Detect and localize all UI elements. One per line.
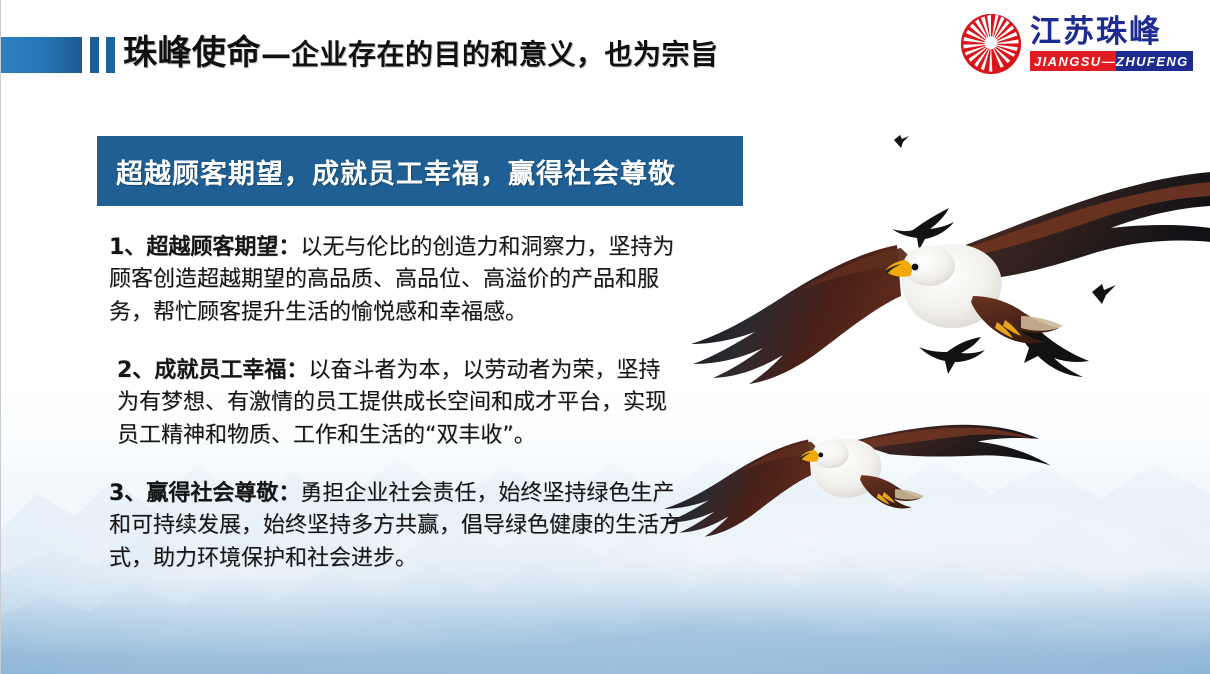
page-title-sub: 企业存在的目的和意义，也为宗旨	[291, 38, 719, 71]
title-accent-bar-1	[90, 37, 99, 73]
title-gradient-bar	[1, 37, 82, 73]
logo-banner-left-text: JIANGSU	[1034, 54, 1102, 69]
title-decoration	[1, 37, 115, 73]
logo-banner-right-text: ZHUFENG	[1116, 54, 1189, 69]
logo-banner-left: JIANGSU—	[1030, 51, 1116, 71]
presentation-slide: 珠峰使命—企业存在的目的和意义，也为宗旨	[0, 0, 1210, 674]
page-title: 珠峰使命—企业存在的目的和意义，也为宗旨	[123, 36, 719, 70]
company-logo: 江苏珠峰 JIANGSU— ZHUFENG	[959, 11, 1202, 77]
mission-item-1-lead: 超越顾客期望：	[146, 235, 300, 260]
mission-detail-list: 1、超越顾客期望：以无与伦比的创造力和洞察力，坚持为顾客创造超越期望的高品质、高…	[109, 232, 681, 575]
mission-item-1-number: 1、	[109, 235, 146, 260]
mission-item-1: 1、超越顾客期望：以无与伦比的创造力和洞察力，坚持为顾客创造超越期望的高品质、高…	[109, 232, 681, 329]
mission-item-2: 2、成就员工幸福：以奋斗者为本，以劳动者为荣，坚持为有梦想、有激情的员工提供成长…	[109, 355, 681, 452]
mission-item-2-lead: 成就员工幸福：	[154, 358, 308, 383]
logo-banner-right: ZHUFENG	[1116, 51, 1193, 71]
logo-banner-dash: —	[1102, 54, 1116, 69]
mission-item-3-lead: 赢得社会尊敬：	[146, 481, 300, 506]
mission-statement-text: 超越顾客期望，成就员工幸福，赢得社会尊敬	[97, 152, 676, 191]
mission-item-2-number: 2、	[117, 358, 154, 383]
mission-item-3: 3、赢得社会尊敬：勇担企业社会责任，始终坚持绿色生产和可持续发展，始终坚持多方共…	[109, 478, 681, 575]
mission-statement-banner: 超越顾客期望，成就员工幸福，赢得社会尊敬	[97, 136, 743, 206]
page-title-dash: —	[261, 37, 291, 72]
title-accent-bar-2	[106, 37, 115, 73]
logo-company-name-cn: 江苏珠峰	[1030, 17, 1202, 49]
page-title-main: 珠峰使命	[123, 33, 261, 73]
sunburst-circle-icon	[959, 12, 1023, 76]
logo-latin-banner: JIANGSU— ZHUFENG	[1030, 51, 1202, 71]
mission-item-3-number: 3、	[109, 481, 146, 506]
logo-text-block: 江苏珠峰 JIANGSU— ZHUFENG	[1030, 17, 1202, 72]
